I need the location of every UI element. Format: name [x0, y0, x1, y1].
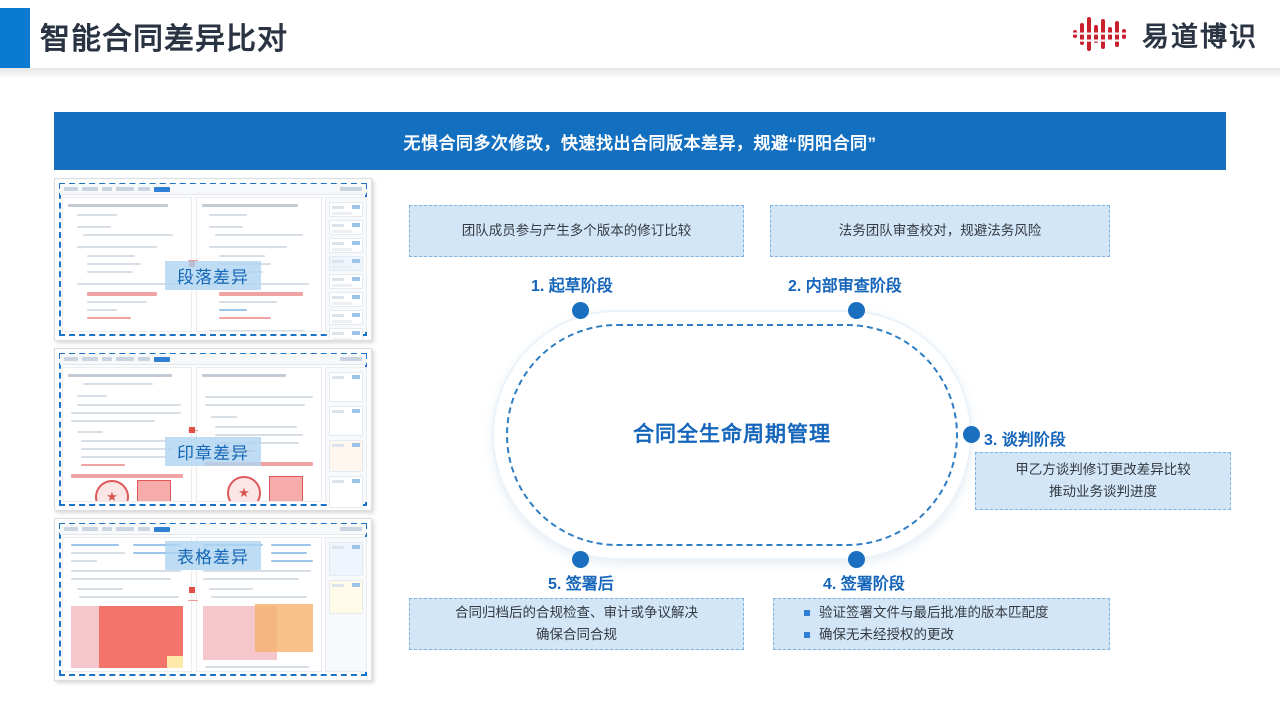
- bullet-square-icon: [804, 632, 810, 638]
- brand-name: 易道博识: [1142, 15, 1258, 54]
- stage-dot-4: [848, 551, 865, 568]
- callout-line: 合同归档后的合规检查、审计或争议解决: [455, 602, 698, 624]
- thumbnail-diff-sidebar: [325, 367, 367, 502]
- thumbnail-diff-sidebar: [325, 537, 367, 672]
- screenshot-thumbnail-list: 段落差异: [54, 178, 372, 688]
- stage-label-4: 4. 签署阶段: [823, 570, 905, 594]
- thumbnail-table-diff[interactable]: 表格差异: [54, 518, 372, 681]
- thumbnail-label: 段落差异: [165, 261, 261, 290]
- callout-stage-3: 甲乙方谈判修订更改差异比较 推动业务谈判进度: [975, 452, 1231, 510]
- callout-line: 法务团队审查校对，规避法务风险: [839, 220, 1042, 242]
- stage-dot-2: [848, 302, 865, 319]
- stage-dot-5: [572, 551, 589, 568]
- stage-label-1: 1. 起草阶段: [531, 272, 613, 296]
- callout-stage-2: 法务团队审查校对，规避法务风险: [770, 205, 1110, 257]
- brand-logo: 易道博识: [1072, 14, 1258, 54]
- thumbnail-toolbar: [60, 184, 366, 195]
- thumbnail-right-document: [196, 367, 322, 502]
- stage-label-2: 2. 内部审查阶段: [788, 272, 902, 296]
- lifecycle-center-title: 合同全生命周期管理: [492, 418, 972, 448]
- callout-bullet-item: 确保无未经授权的更改: [804, 624, 954, 646]
- thumbnail-diff-sidebar: [325, 197, 367, 332]
- callout-line: 验证签署文件与最后批准的版本匹配度: [819, 602, 1049, 624]
- thumbnail-toolbar: [60, 354, 366, 365]
- callout-line: 确保合同合规: [536, 624, 617, 646]
- red-bar-wave-logo-icon: [1072, 14, 1130, 54]
- page-title: 智能合同差异比对: [40, 14, 288, 58]
- thumbnail-paragraph-diff[interactable]: 段落差异: [54, 178, 372, 341]
- thumbnail-label: 印章差异: [165, 437, 261, 466]
- banner-text: 无惧合同多次修改，快速找出合同版本差异，规避“阴阳合同”: [404, 129, 877, 154]
- stage-dot-3: [963, 426, 980, 443]
- thumbnail-label: 表格差异: [165, 541, 261, 570]
- bullet-square-icon: [804, 610, 810, 616]
- callout-stage-4: 验证签署文件与最后批准的版本匹配度 确保无未经授权的更改: [773, 598, 1110, 650]
- slide-page: 智能合同差异比对 易道博识: [0, 0, 1280, 720]
- stage-label-5: 5. 签署后: [548, 570, 614, 594]
- header-divider: [0, 68, 1280, 78]
- highlight-banner: 无惧合同多次修改，快速找出合同版本差异，规避“阴阳合同”: [54, 112, 1226, 170]
- callout-stage-5: 合同归档后的合规检查、审计或争议解决 确保合同合规: [409, 598, 744, 650]
- thumbnail-seal-diff[interactable]: 印章差异: [54, 348, 372, 511]
- callout-stage-1: 团队成员参与产生多个版本的修订比较: [409, 205, 744, 257]
- callout-bullet-item: 验证签署文件与最后批准的版本匹配度: [804, 602, 1049, 624]
- callout-line: 甲乙方谈判修订更改差异比较: [1015, 459, 1191, 481]
- thumbnail-left-document: [62, 367, 192, 502]
- header-accent-bar: [0, 8, 30, 68]
- thumbnail-toolbar: [60, 524, 366, 535]
- callout-line: 确保无未经授权的更改: [819, 624, 954, 646]
- page-header: 智能合同差异比对 易道博识: [0, 0, 1280, 70]
- contract-lifecycle-diagram: 合同全生命周期管理 团队成员参与产生多个版本的修订比较 1. 起草阶段 法务团队…: [400, 180, 1230, 680]
- stage-label-3: 3. 谈判阶段: [984, 426, 1066, 450]
- callout-line: 团队成员参与产生多个版本的修订比较: [462, 220, 692, 242]
- stage-dot-1: [572, 302, 589, 319]
- callout-line: 推动业务谈判进度: [1049, 481, 1157, 503]
